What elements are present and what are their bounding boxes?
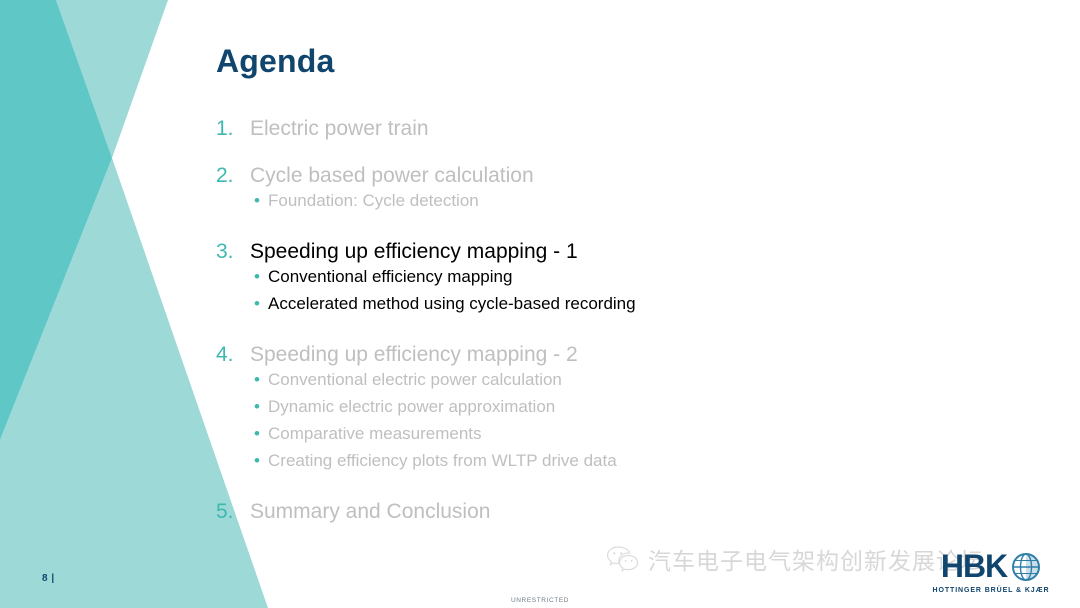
spacer: [216, 219, 1036, 241]
list-item-label: Comparative measurements: [268, 425, 482, 442]
agenda-item-4[interactable]: 4. Speeding up efficiency mapping - 2 • …: [216, 344, 1036, 469]
bullet-icon: •: [254, 268, 268, 285]
title-block: Agenda: [216, 44, 1016, 79]
agenda-item-5[interactable]: 5. Summary and Conclusion: [216, 501, 1036, 522]
list-item[interactable]: • Comparative measurements: [216, 425, 1036, 442]
agenda-item-2-number: 2.: [216, 165, 250, 186]
list-item-label: Conventional electric power calculation: [268, 371, 562, 388]
agenda-item-5-label: Summary and Conclusion: [250, 501, 490, 522]
spacer: [216, 322, 1036, 344]
bullet-icon: •: [254, 192, 268, 209]
logo-wordmark-row: HBK: [916, 548, 1066, 585]
list-item[interactable]: • Accelerated method using cycle-based r…: [216, 295, 1036, 312]
agenda-item-5-number: 5.: [216, 501, 250, 522]
classification-note: UNRESTRICTED: [0, 597, 1080, 604]
agenda-item-4-head: 4. Speeding up efficiency mapping - 2: [216, 344, 1036, 365]
list-item-label: Dynamic electric power approximation: [268, 398, 555, 415]
bullet-icon: •: [254, 452, 268, 469]
agenda-item-1-head: 1. Electric power train: [216, 118, 1036, 139]
bullet-icon: •: [254, 398, 268, 415]
agenda-item-1-number: 1.: [216, 118, 250, 139]
bullet-icon: •: [254, 425, 268, 442]
bullet-icon: •: [254, 295, 268, 312]
spacer: [216, 139, 1036, 165]
agenda-item-2-sublist: • Foundation: Cycle detection: [216, 192, 1036, 209]
agenda-item-4-label: Speeding up efficiency mapping - 2: [250, 344, 578, 365]
agenda-item-4-number: 4.: [216, 344, 250, 365]
list-item[interactable]: • Conventional electric power calculatio…: [216, 371, 1036, 388]
logo-text: HBK: [941, 548, 1007, 585]
agenda-item-3[interactable]: 3. Speeding up efficiency mapping - 1 • …: [216, 241, 1036, 312]
hbk-logo: HBK HOTTINGER BRÜEL & KJÆR: [916, 548, 1066, 594]
agenda-list: 1. Electric power train 2. Cycle based p…: [216, 118, 1036, 522]
agenda-item-2[interactable]: 2. Cycle based power calculation • Found…: [216, 165, 1036, 209]
agenda-item-3-sublist: • Conventional efficiency mapping • Acce…: [216, 268, 1036, 312]
list-item-label: Foundation: Cycle detection: [268, 192, 479, 209]
list-item-label: Accelerated method using cycle-based rec…: [268, 295, 636, 312]
agenda-item-5-head: 5. Summary and Conclusion: [216, 501, 1036, 522]
agenda-item-2-label: Cycle based power calculation: [250, 165, 534, 186]
list-item[interactable]: • Creating efficiency plots from WLTP dr…: [216, 452, 1036, 469]
agenda-item-4-sublist: • Conventional electric power calculatio…: [216, 371, 1036, 469]
agenda-item-1[interactable]: 1. Electric power train: [216, 118, 1036, 139]
agenda-item-1-label: Electric power train: [250, 118, 429, 139]
agenda-item-3-number: 3.: [216, 241, 250, 262]
wechat-icon: [606, 545, 640, 573]
deco-dark-teal: [0, 0, 112, 440]
slide-canvas: Agenda 1. Electric power train 2. Cycle …: [0, 0, 1080, 608]
agenda-item-3-head: 3. Speeding up efficiency mapping - 1: [216, 241, 1036, 262]
page-number: 8 |: [42, 573, 55, 584]
page-title: Agenda: [216, 44, 1016, 79]
bullet-icon: •: [254, 371, 268, 388]
list-item-label: Creating efficiency plots from WLTP driv…: [268, 452, 617, 469]
list-item[interactable]: • Conventional efficiency mapping: [216, 268, 1036, 285]
deco-light-teal-top: [56, 0, 168, 158]
list-item[interactable]: • Foundation: Cycle detection: [216, 192, 1036, 209]
list-item-label: Conventional efficiency mapping: [268, 268, 512, 285]
list-item[interactable]: • Dynamic electric power approximation: [216, 398, 1036, 415]
agenda-item-2-head: 2. Cycle based power calculation: [216, 165, 1036, 186]
spacer: [216, 479, 1036, 501]
agenda-item-3-label: Speeding up efficiency mapping - 1: [250, 241, 578, 262]
globe-icon: [1011, 552, 1041, 582]
logo-tagline: HOTTINGER BRÜEL & KJÆR: [916, 587, 1066, 594]
